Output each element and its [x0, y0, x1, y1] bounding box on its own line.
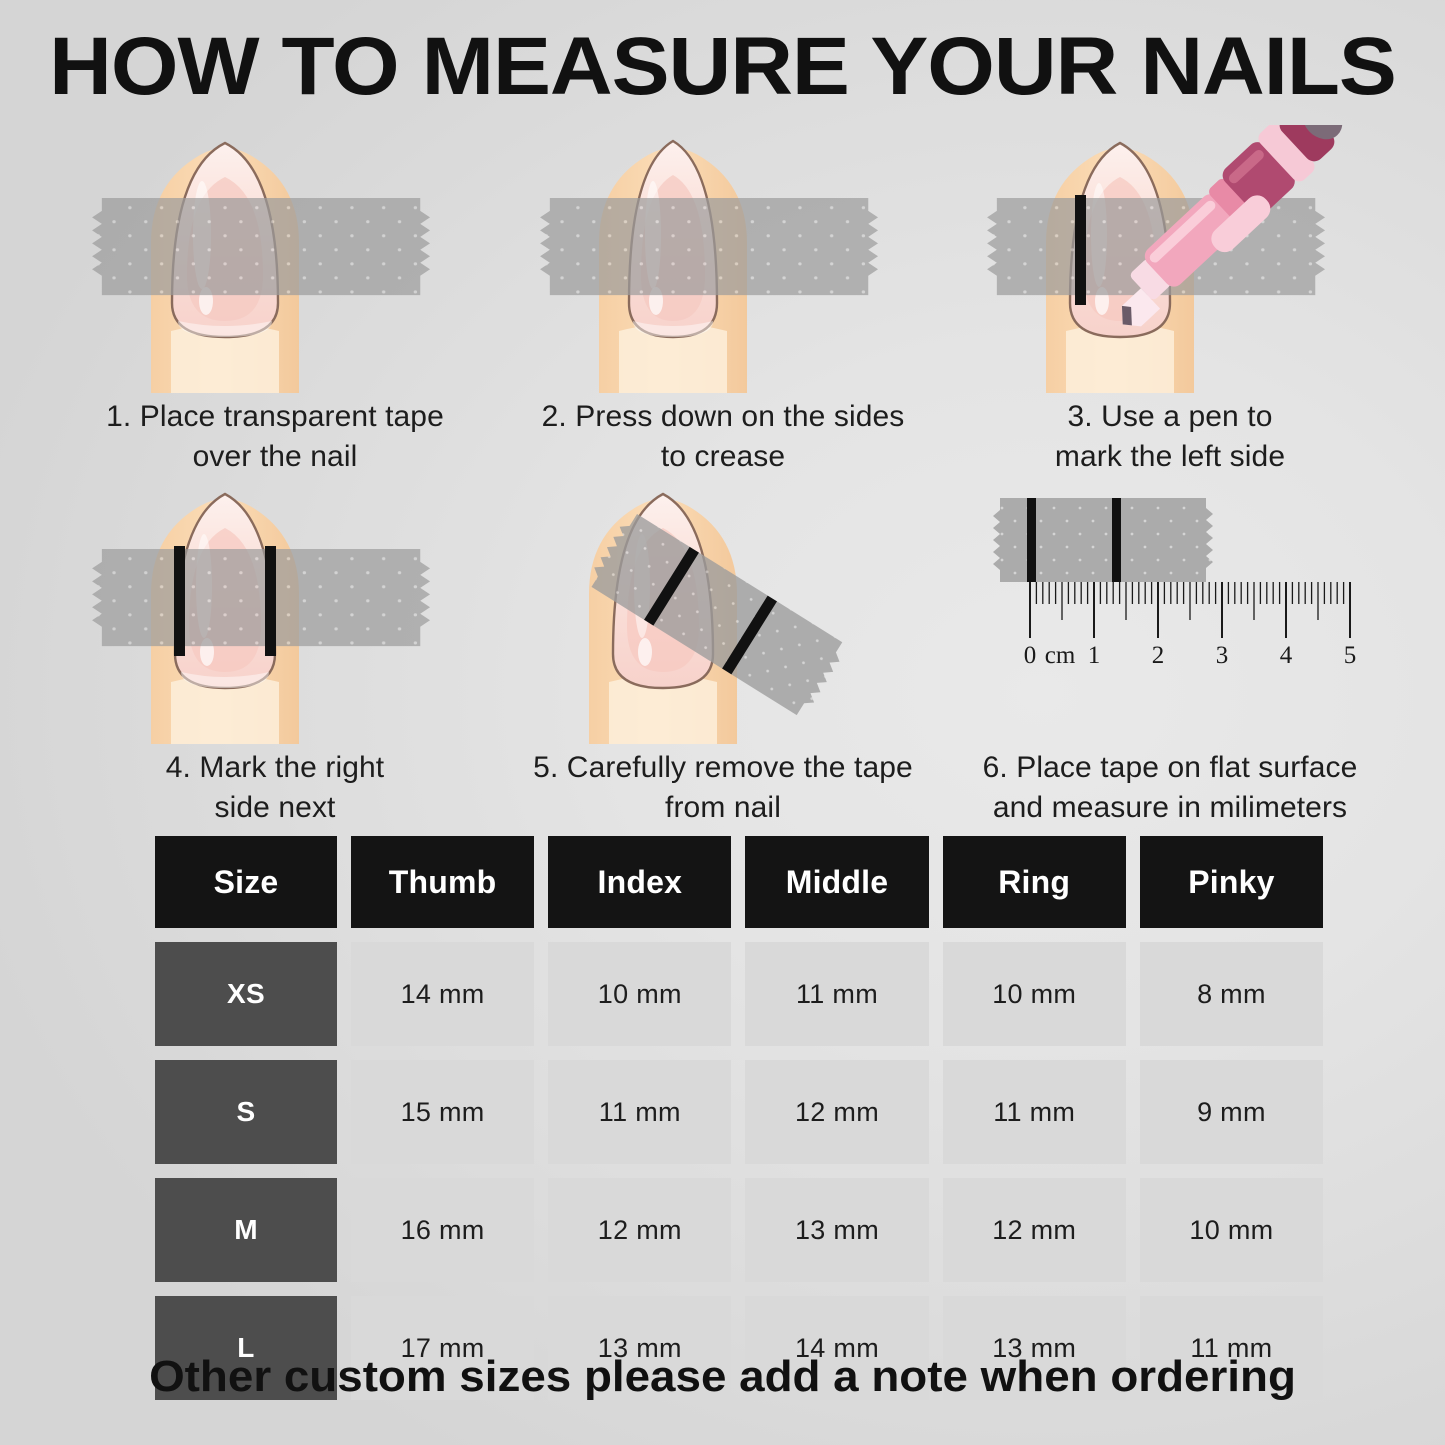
- cell-m-pinky: 10 mm: [1140, 1178, 1323, 1282]
- tape-strip: [92, 198, 430, 295]
- cell-xs-ring: 10 mm: [943, 942, 1126, 1046]
- step-2-line1: 2. Press down on the sides: [523, 397, 923, 437]
- step-4-line1: 4. Mark the right: [75, 748, 475, 788]
- right-mark: [265, 546, 276, 656]
- ruler-label-4: 4: [1266, 642, 1306, 670]
- cell-m-thumb: 16 mm: [351, 1178, 534, 1282]
- step-1-line1: 1. Place transparent tape: [75, 397, 475, 437]
- cell-s-thumb: 15 mm: [351, 1060, 534, 1164]
- table-row: M 16 mm 12 mm 13 mm 12 mm 10 mm: [155, 1178, 1323, 1282]
- ruler-label-5: 5: [1330, 642, 1370, 670]
- step-3-line1: 3. Use a pen to: [970, 397, 1370, 437]
- right-mark: [1112, 498, 1121, 582]
- tape-strip: [92, 549, 430, 646]
- header-index: Index: [548, 836, 731, 928]
- infographic-page: HOW TO MEASURE YOUR NAILS: [0, 0, 1445, 1445]
- left-mark: [1075, 195, 1086, 305]
- step-4: 4. Mark the right side next: [75, 476, 475, 827]
- step-6-line1: 6. Place tape on flat surface: [970, 748, 1370, 788]
- step-4-line2: side next: [75, 788, 475, 828]
- step-5-line2: from nail: [523, 788, 923, 828]
- header-size: Size: [155, 836, 337, 928]
- size-label-m: M: [155, 1178, 337, 1282]
- step-3-illustration: [970, 125, 1370, 393]
- cell-xs-index: 10 mm: [548, 942, 731, 1046]
- header-middle: Middle: [745, 836, 928, 928]
- left-mark: [174, 546, 185, 656]
- ruler-unit-label: cm: [1040, 642, 1080, 670]
- footer-note: Other custom sizes please add a note whe…: [0, 1352, 1445, 1402]
- step-6: 012345cm 6. Place tape on flat surface a…: [970, 476, 1370, 827]
- tape-strip-flat: [993, 498, 1213, 582]
- step-1-caption: 1. Place transparent tape over the nail: [75, 397, 475, 476]
- cell-s-pinky: 9 mm: [1140, 1060, 1323, 1164]
- cell-s-middle: 12 mm: [745, 1060, 928, 1164]
- size-label-xs: XS: [155, 942, 337, 1046]
- page-title: HOW TO MEASURE YOUR NAILS: [0, 24, 1445, 110]
- size-table: Size Thumb Index Middle Ring Pinky XS 14…: [155, 836, 1323, 1414]
- step-3-line2: mark the left side: [970, 437, 1370, 477]
- header-pinky: Pinky: [1140, 836, 1323, 928]
- step-6-caption: 6. Place tape on flat surface and measur…: [970, 748, 1370, 827]
- step-1-illustration: [75, 125, 475, 393]
- cell-xs-middle: 11 mm: [745, 942, 928, 1046]
- table-row: XS 14 mm 10 mm 11 mm 10 mm 8 mm: [155, 942, 1323, 1046]
- tape-strip: [540, 198, 878, 295]
- step-5-caption: 5. Carefully remove the tape from nail: [523, 748, 923, 827]
- ruler-ticks: [1030, 582, 1350, 638]
- cell-s-index: 11 mm: [548, 1060, 731, 1164]
- size-label-s: S: [155, 1060, 337, 1164]
- left-mark: [1027, 498, 1036, 582]
- cell-m-index: 12 mm: [548, 1178, 731, 1282]
- cell-s-ring: 11 mm: [943, 1060, 1126, 1164]
- step-6-line2: and measure in milimeters: [970, 788, 1370, 828]
- step-5-illustration: [523, 476, 923, 744]
- step-5: 5. Carefully remove the tape from nail: [523, 476, 923, 827]
- ruler-label-2: 2: [1138, 642, 1178, 670]
- ruler-label-3: 3: [1202, 642, 1242, 670]
- table-header-row: Size Thumb Index Middle Ring Pinky: [155, 836, 1323, 928]
- header-ring: Ring: [943, 836, 1126, 928]
- step-1: 1. Place transparent tape over the nail: [75, 125, 475, 476]
- table-row: S 15 mm 11 mm 12 mm 11 mm 9 mm: [155, 1060, 1323, 1164]
- step-5-line1: 5. Carefully remove the tape: [523, 748, 923, 788]
- step-2: 2. Press down on the sides to crease: [523, 125, 923, 476]
- step-1-line2: over the nail: [75, 437, 475, 477]
- step-2-caption: 2. Press down on the sides to crease: [523, 397, 923, 476]
- step-3-caption: 3. Use a pen to mark the left side: [970, 397, 1370, 476]
- ruler: 012345cm: [1016, 580, 1366, 690]
- step-2-line2: to crease: [523, 437, 923, 477]
- cell-m-middle: 13 mm: [745, 1178, 928, 1282]
- step-4-caption: 4. Mark the right side next: [75, 748, 475, 827]
- step-6-illustration: 012345cm: [970, 476, 1370, 744]
- cell-xs-pinky: 8 mm: [1140, 942, 1323, 1046]
- step-2-illustration: [523, 125, 923, 393]
- cell-xs-thumb: 14 mm: [351, 942, 534, 1046]
- step-3: 3. Use a pen to mark the left side: [970, 125, 1370, 476]
- header-thumb: Thumb: [351, 836, 534, 928]
- cell-m-ring: 12 mm: [943, 1178, 1126, 1282]
- step-4-illustration: [75, 476, 475, 744]
